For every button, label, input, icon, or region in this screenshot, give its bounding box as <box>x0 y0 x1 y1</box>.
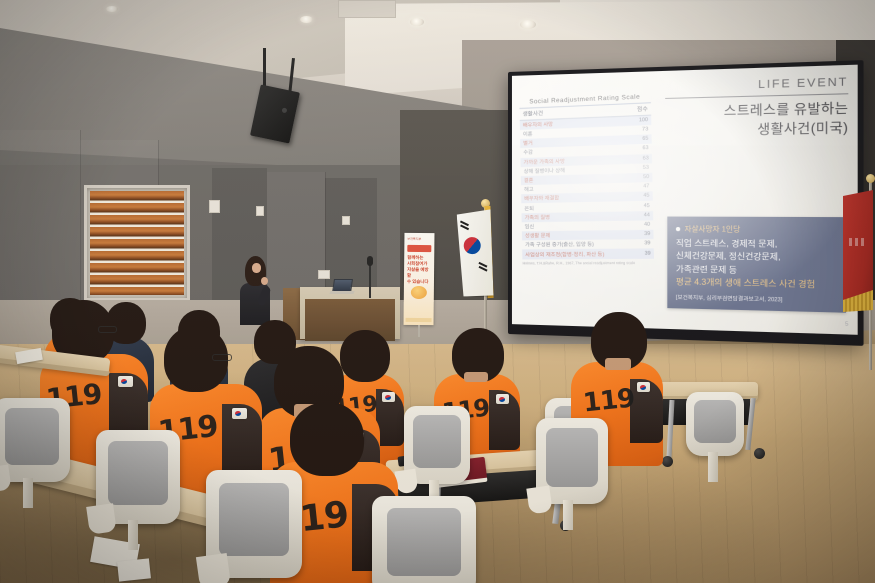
chair-front-left-2[interactable] <box>96 430 180 524</box>
chair-arm <box>196 553 231 583</box>
table-cell-event: 상해 질병이나 상해 <box>524 167 565 175</box>
table-cell-score: 47 <box>643 183 649 190</box>
slide-page-number: 5 <box>845 321 848 328</box>
korean-flag-patch-icon <box>637 382 650 392</box>
table-cell-score: 39 <box>644 250 650 257</box>
chair-mesh <box>219 483 288 556</box>
rollup-banner: 보건복지부 함께하는 사회참여가 자살을 예방할 수 있습니다 <box>404 233 435 325</box>
chair-stem <box>23 478 33 508</box>
downlight-3 <box>520 20 536 29</box>
table-cell-score: 73 <box>642 126 648 133</box>
table-cell-event: 별거 <box>523 140 533 147</box>
table-cell-score: 39 <box>644 240 650 247</box>
taeguk-symbol-icon <box>461 234 484 257</box>
chair-front-right[interactable] <box>372 496 476 583</box>
window <box>84 185 190 301</box>
table-cell-event: 가족 구성원 증가(출산, 입양 등) <box>525 241 594 249</box>
chair-front-center[interactable] <box>206 470 302 578</box>
callout-source: [보건복지부, 심리부검면담결과보고서, 2023] <box>676 293 837 304</box>
chair-front-left-1[interactable] <box>0 398 70 482</box>
chair-arm <box>86 503 117 535</box>
projection-screen: LIFE EVENT 스트레스를 유발하는 생활사건(미국) Social Re… <box>508 60 864 346</box>
banner-stand <box>418 325 420 337</box>
wall-outlet[interactable] <box>318 270 330 279</box>
table-cell-event: 가까운 가족의 사망 <box>523 157 564 165</box>
table-col-score: 점수 <box>637 105 648 114</box>
chair-mesh <box>387 508 462 576</box>
chair-mesh <box>546 428 598 486</box>
banner-line-4: 수 있습니다 <box>407 279 432 285</box>
table-cell-event: 임신 <box>525 223 535 230</box>
chair-stem <box>563 500 573 530</box>
wooden-window-blinds <box>90 191 184 295</box>
presentation-slide: LIFE EVENT 스트레스를 유발하는 생활사건(미국) Social Re… <box>512 65 858 335</box>
korean-flag-patch-icon <box>232 408 247 419</box>
chair-mesh <box>413 415 461 468</box>
chair-mesh <box>108 441 168 505</box>
table-cell-score: 100 <box>639 117 648 125</box>
table-body: 배우자의 사망100이혼73별거65수감63가까운 가족의 사망63상해 질병이… <box>520 115 654 259</box>
table-cell-score: 50 <box>643 174 649 181</box>
downlight-2 <box>410 18 424 26</box>
table-col-event: 생활사건 <box>523 109 544 118</box>
attendee-head <box>290 402 364 476</box>
caster-br1 <box>662 456 673 467</box>
screen-surface: LIFE EVENT 스트레스를 유발하는 생활사건(미국) Social Re… <box>512 65 858 335</box>
banner-graphic <box>411 286 427 299</box>
korean-flag-patch-icon <box>496 394 509 404</box>
table-cell-event: 결혼 <box>524 177 534 184</box>
chair-mid-1[interactable] <box>404 406 470 484</box>
slide-eyebrow: LIFE EVENT <box>650 76 848 94</box>
korean-flag-patch-icon <box>118 376 133 387</box>
table-cell-score: 63 <box>643 155 649 162</box>
chair-stem <box>708 452 718 482</box>
callout-highlight: 평균 4.3개의 생애 스트레스 사건 경험 <box>676 276 837 292</box>
caster-br2 <box>754 448 765 459</box>
table-cell-event: 수감 <box>523 149 533 156</box>
ceiling-vent <box>338 0 396 18</box>
table-cell-event: 이혼 <box>523 131 533 138</box>
slide-table: Social Readjustment Rating Scale 생활사건 점수… <box>519 93 654 265</box>
chair-back-right-2[interactable] <box>686 392 744 456</box>
downlight-8 <box>106 6 118 12</box>
banner-text: 함께하는 사회참여가 자살을 예방할 수 있습니다 <box>407 255 432 285</box>
table-source: Holmes, T.H.&Rahe, R.H., 1967, The socia… <box>522 258 654 265</box>
banner-logo: 보건복지부 <box>407 237 421 241</box>
table-cell-score: 45 <box>644 202 650 209</box>
wall-switch-2[interactable] <box>256 206 264 216</box>
chair-stem <box>128 520 138 550</box>
table-cell-score: 65 <box>642 136 648 143</box>
table-cell-event: 배우자의 사망 <box>523 121 553 129</box>
bullet-dot-icon <box>676 227 680 231</box>
paper-sheet <box>117 558 151 581</box>
auditorium-photo: LIFE EVENT 스트레스를 유발하는 생활사건(미국) Social Re… <box>0 0 875 583</box>
laptop-base <box>329 291 354 294</box>
slide-title-block: LIFE EVENT 스트레스를 유발하는 생활사건(미국) <box>650 76 848 141</box>
banner-kicker-bar <box>407 245 431 252</box>
table-cell-score: 63 <box>642 145 648 152</box>
korean-flag-patch-icon <box>382 392 395 402</box>
table-cell-event: 사업상의 재조정(합병·정리, 파산 등) <box>525 250 604 258</box>
callout-bullet-text: 자살사망자 1인당 <box>685 226 741 234</box>
attendee-head <box>340 330 390 382</box>
table-cell-event: 가족의 질병 <box>524 214 550 221</box>
wall-switch-1[interactable] <box>209 200 220 213</box>
chair-mesh <box>694 400 736 444</box>
table-cell-score: 39 <box>644 231 650 238</box>
banner-footer-strip <box>406 318 432 322</box>
table-cell-score: 53 <box>643 164 649 171</box>
table-cell-score: 44 <box>644 212 650 219</box>
microphone-stand-icon <box>369 262 371 298</box>
slide-divider <box>665 93 848 99</box>
presenter-face <box>252 263 261 273</box>
speaker-rod-1 <box>263 48 266 90</box>
eyeglasses-icon <box>212 354 232 361</box>
eyeglasses-icon <box>98 326 117 333</box>
banner-line-3: 자살을 예방할 <box>407 267 432 279</box>
uniform-119-number: 119 <box>582 383 636 418</box>
red-flag-finial-icon <box>866 174 875 183</box>
table-cell-event: 은퇴 <box>524 205 534 212</box>
table-cell-event: 성생활 문제 <box>525 232 551 239</box>
table-cell-event: 배우자와 재결합 <box>524 195 559 203</box>
chair-mid-2[interactable] <box>536 418 608 504</box>
attendee-neck <box>464 372 488 382</box>
attendee-neck <box>605 358 631 370</box>
chair-mesh <box>5 408 60 465</box>
wall-switch-3[interactable] <box>342 216 350 225</box>
downlight-1 <box>300 16 313 23</box>
red-flag-emblem <box>849 238 867 246</box>
slide-callout-box: 자살사망자 1인당 직업 스트레스, 경제적 문제, 신체건강문제, 정신건강문… <box>667 217 846 313</box>
slide-heading-line-2: 생활사건(미국) <box>650 118 848 141</box>
table-cell-event: 해고 <box>524 186 534 193</box>
presenter-hand <box>261 277 268 285</box>
table-cell-score: 40 <box>644 221 650 228</box>
callout-bullet-line: 자살사망자 1인당 <box>676 224 837 236</box>
table-cell-score: 45 <box>643 193 649 200</box>
